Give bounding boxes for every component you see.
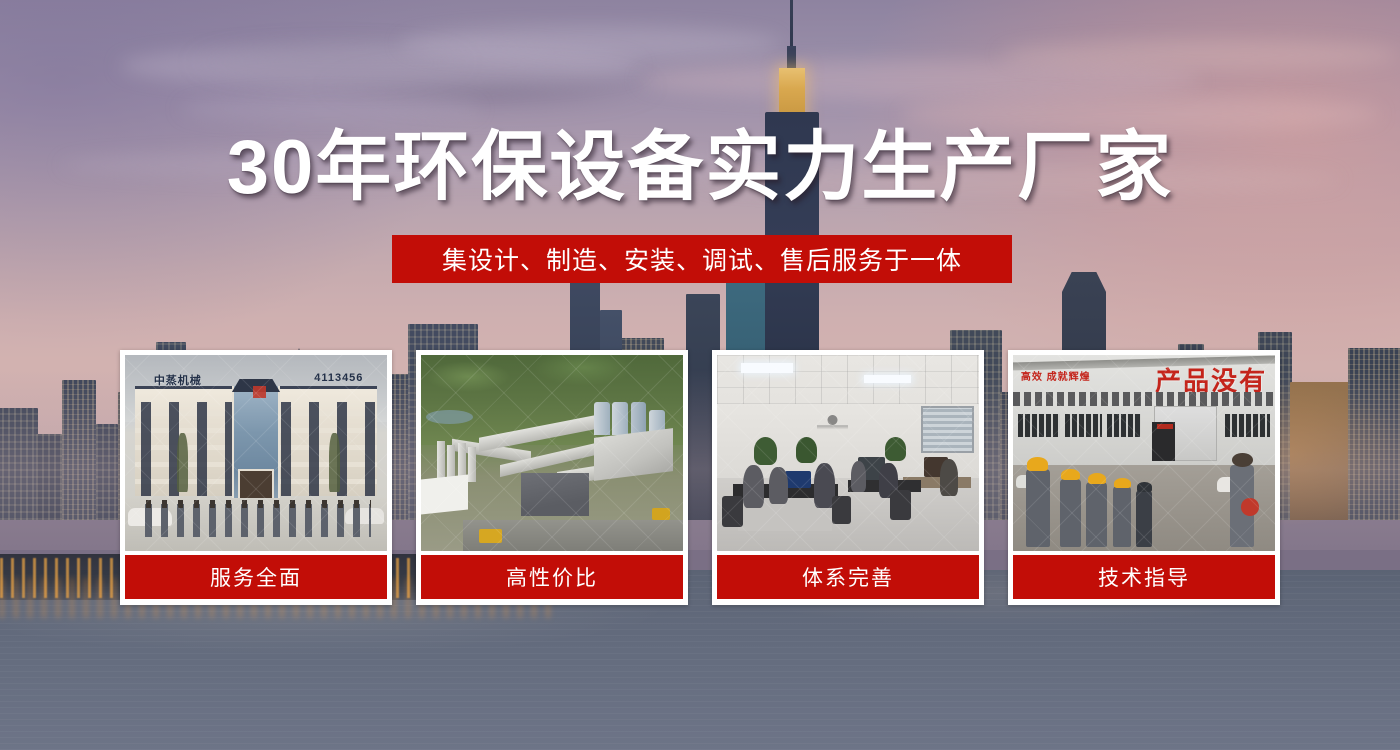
photo4-supervisor-head: [1232, 453, 1253, 467]
photo2-silo-2: [612, 402, 628, 435]
subtitle-text: 集设计、制造、安装、调试、售后服务于一体: [442, 241, 962, 277]
card-caption-text: 服务全面: [210, 562, 302, 592]
photo2-silo-1: [594, 402, 610, 435]
card-caption-bar: 技术指导: [1013, 555, 1275, 599]
photo3-window-blinds: [921, 406, 973, 453]
photo4-window-4: [1225, 414, 1270, 438]
page-title: 30年环保设备实力生产厂家: [0, 130, 1400, 206]
photo2-stack-1: [437, 441, 445, 480]
card-photo-office: [717, 355, 979, 551]
photo2-loader: [652, 508, 670, 520]
photo3-person-4: [851, 461, 867, 492]
photo4-window-3: [1107, 414, 1141, 438]
card-caption-text: 高性价比: [506, 562, 598, 592]
photo2-silo-3: [631, 402, 647, 435]
photo3-chair-1: [722, 496, 743, 527]
photo2-white-building: [421, 474, 468, 514]
photo3-person-2: [769, 467, 787, 504]
photo4-worker-5: [1136, 490, 1152, 547]
photo4-slogan-text: 高效 成就辉煌: [1021, 371, 1091, 384]
photo1-company-sign: 中蒸机械: [154, 372, 202, 388]
card-photo-headquarters: 中蒸机械 4113456: [125, 355, 387, 551]
photo4-door-sign: [1157, 424, 1173, 430]
photo4-window-1: [1018, 414, 1060, 438]
photo4-worker-1: [1026, 469, 1050, 547]
feature-card-list: 中蒸机械 4113456 服务全面: [120, 350, 1280, 605]
photo4-cap-5: [1137, 482, 1151, 492]
photo2-pond: [426, 410, 473, 424]
card-caption-text: 技术指导: [1098, 562, 1190, 592]
photo4-window-band: [1013, 392, 1275, 406]
photo2-stack-4: [468, 447, 476, 482]
photo4-hardhat-3: [1088, 473, 1106, 485]
photo1-staff-row: [141, 504, 372, 537]
photo4-worker-3: [1086, 482, 1107, 547]
photo2-excavator: [479, 529, 503, 543]
photo3-wall-logo: [817, 410, 848, 435]
photo3-plant-3: [885, 437, 906, 461]
photo3-person-6: [940, 459, 958, 496]
photo1-staff-heads: [141, 500, 372, 508]
feature-card-service[interactable]: 中蒸机械 4113456 服务全面: [120, 350, 392, 605]
photo4-hardhat-2: [1061, 469, 1079, 481]
photo3-chair-3: [890, 490, 911, 519]
photo3-plant-2: [796, 437, 817, 462]
photo1-entrance: [238, 469, 275, 500]
photo3-laptop: [785, 471, 811, 489]
photo3-plant-1: [754, 437, 778, 464]
photo4-worker-2: [1060, 479, 1081, 548]
promo-banner: 30年环保设备实力生产厂家 集设计、制造、安装、调试、售后服务于一体 中蒸机械 …: [0, 0, 1400, 750]
photo3-ceiling-light-2: [864, 375, 911, 384]
building-l3: [62, 380, 96, 520]
building-l1: [0, 408, 38, 520]
feature-card-training[interactable]: 产品没有 高效 成就辉煌: [1008, 350, 1280, 605]
feature-card-value[interactable]: 高性价比: [416, 350, 688, 605]
building-l4: [96, 424, 118, 520]
card-caption-bar: 服务全面: [125, 555, 387, 599]
photo4-hardhat-4: [1114, 478, 1131, 489]
photo4-worker-4: [1113, 486, 1131, 547]
photo4-red-helmet: [1241, 498, 1259, 516]
photo3-chair-2: [832, 496, 850, 523]
building-l2: [36, 434, 62, 520]
photo2-grey-shed: [521, 473, 589, 516]
subtitle-banner: 集设计、制造、安装、调试、售后服务于一体: [392, 235, 1012, 283]
photo3-person-1: [743, 465, 764, 508]
card-caption-bar: 体系完善: [717, 555, 979, 599]
feature-card-system[interactable]: 体系完善: [712, 350, 984, 605]
card-photo-plant-aerial: [421, 355, 683, 551]
photo1-tree-left: [177, 433, 187, 492]
card-photo-workers: 产品没有 高效 成就辉煌: [1013, 355, 1275, 551]
photo3-ceiling-light-1: [741, 363, 793, 373]
card-caption-bar: 高性价比: [421, 555, 683, 599]
photo2-main-hall: [594, 429, 673, 482]
photo1-tree-right: [329, 433, 339, 492]
photo4-window-2: [1065, 414, 1102, 438]
card-caption-text: 体系完善: [802, 562, 894, 592]
photo1-flag: [253, 386, 266, 398]
photo1-phone-number: 4113456: [314, 372, 363, 384]
photo4-hardhat-1: [1027, 457, 1048, 471]
